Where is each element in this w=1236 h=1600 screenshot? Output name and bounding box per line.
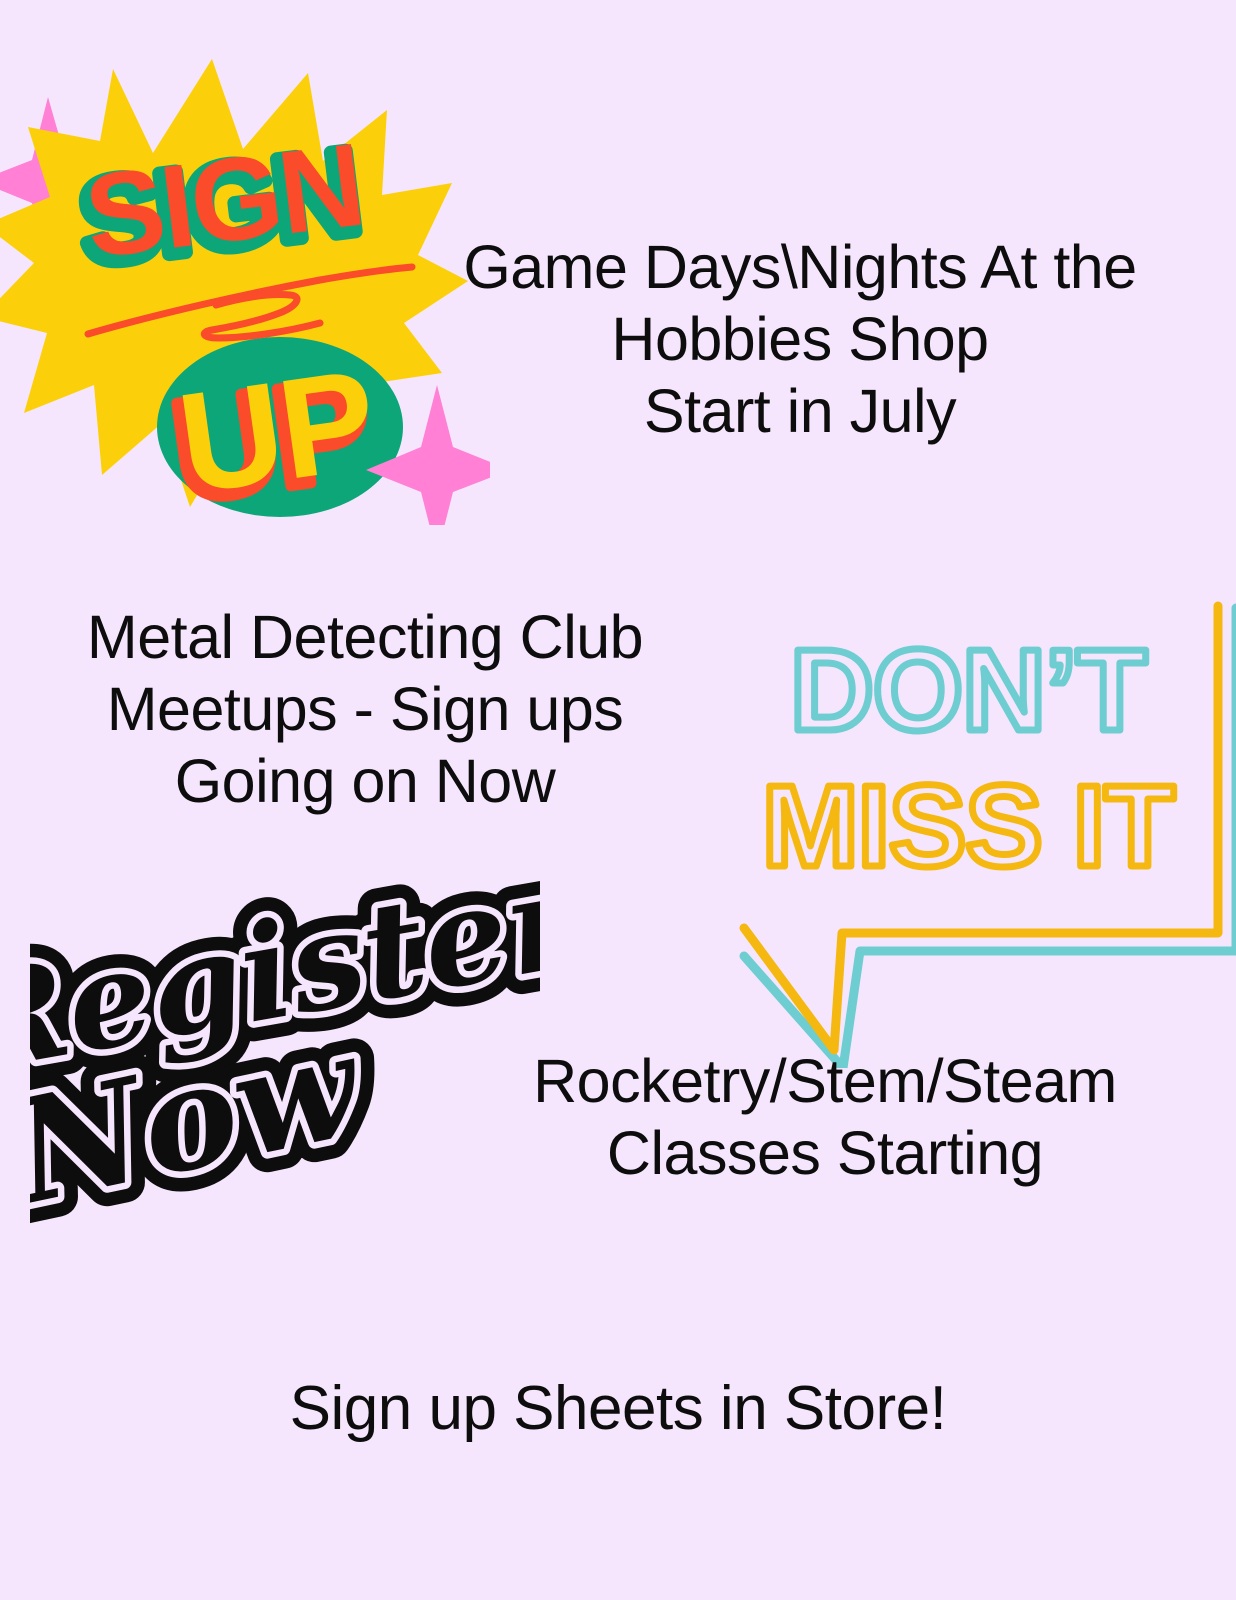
up-wordmark: UP UP bbox=[163, 340, 384, 525]
metal-detecting-text: Metal Detecting Club Meetups - Sign ups … bbox=[10, 602, 720, 818]
game-days-text: Game Days\Nights At the Hobbies Shop Sta… bbox=[400, 232, 1200, 448]
footer-text: Sign up Sheets in Store! bbox=[0, 1372, 1236, 1445]
poster-canvas: SIGN SIGN UP UP Game Days\Nights At the … bbox=[0, 0, 1236, 1600]
svg-text:DON’T: DON’T bbox=[790, 625, 1146, 755]
dont-text: DON’T bbox=[790, 625, 1146, 755]
svg-text:UP: UP bbox=[170, 340, 384, 524]
svg-text:MISS IT: MISS IT bbox=[762, 761, 1174, 891]
miss-it-text: MISS IT bbox=[762, 761, 1174, 891]
dont-miss-it-bubble: DON’T MISS IT bbox=[700, 598, 1236, 1068]
rocketry-text: Rocketry/Stem/Steam Classes Starting bbox=[455, 1046, 1195, 1190]
